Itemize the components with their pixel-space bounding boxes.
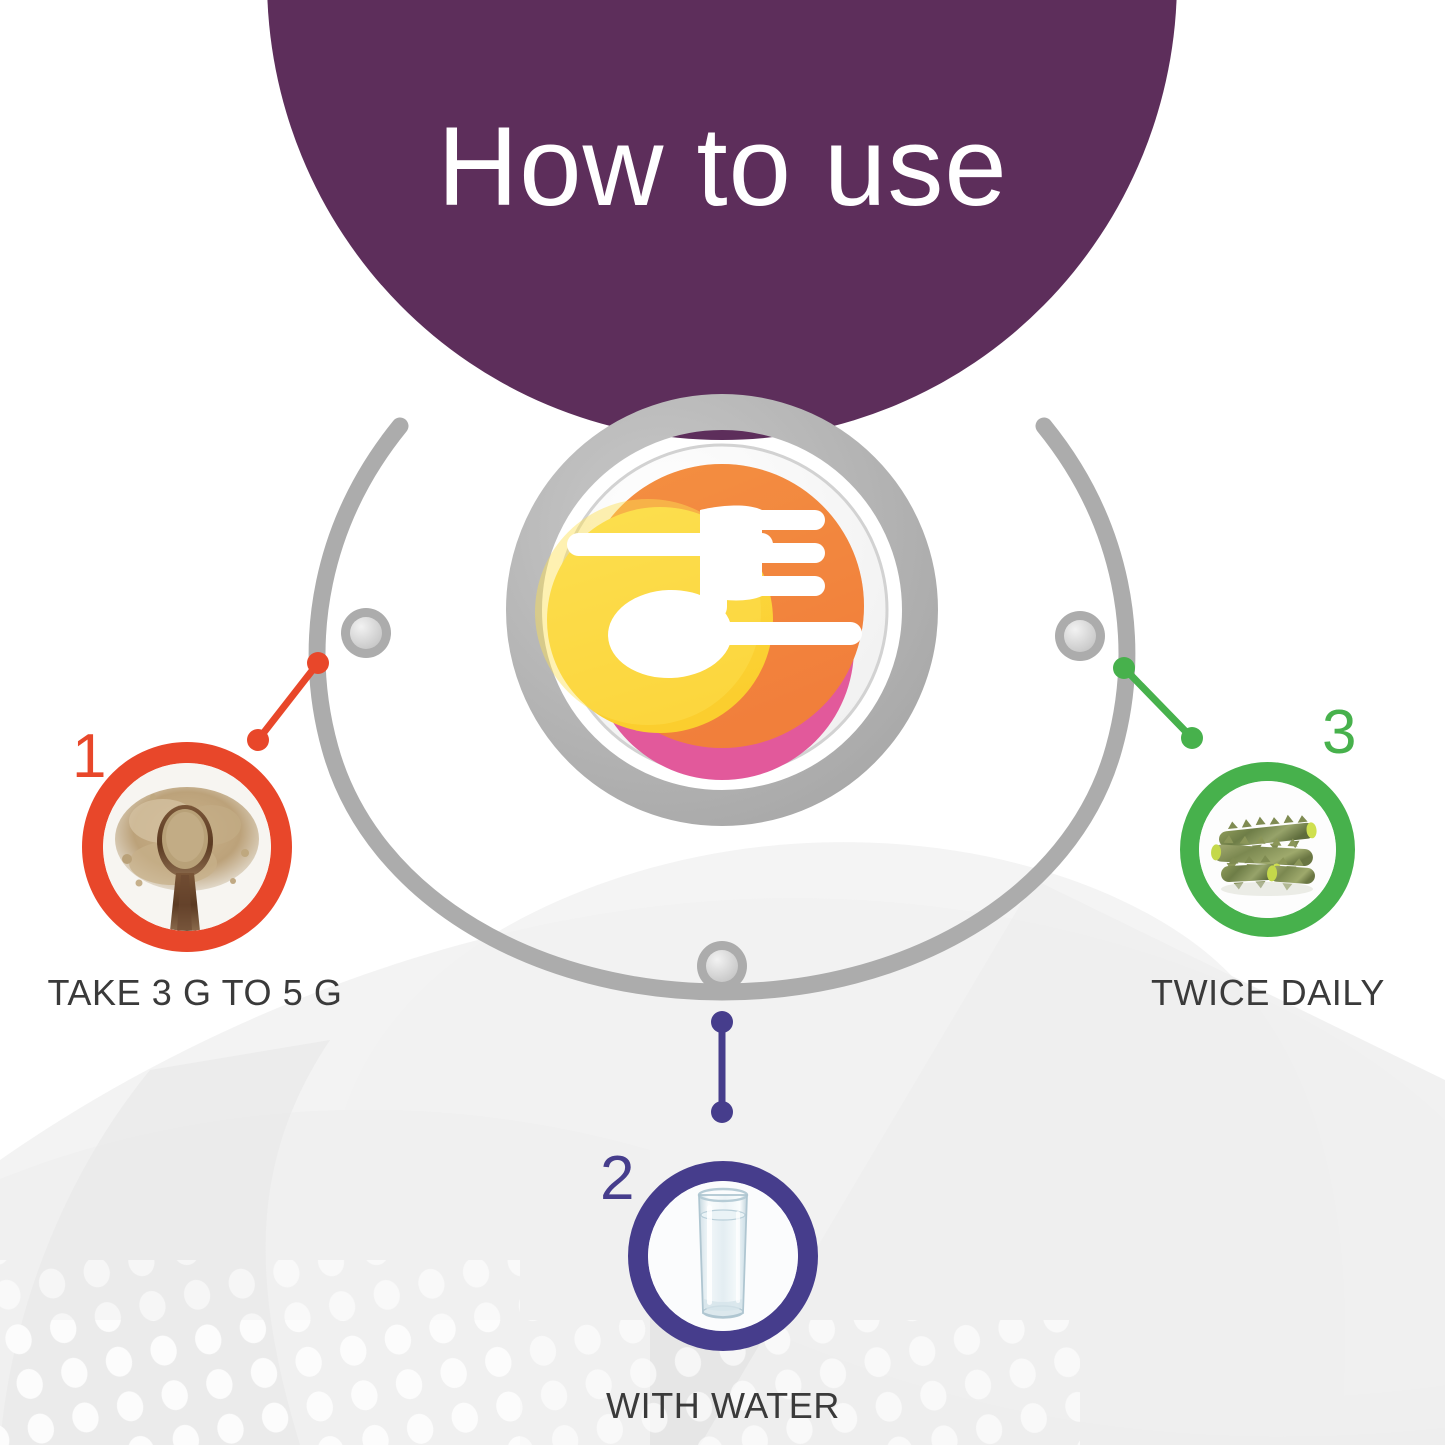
step-3-ring <box>1180 762 1355 937</box>
step-2-circle[interactable] <box>628 1161 818 1351</box>
glass-of-water-photo <box>648 1181 798 1331</box>
step-3-number: 3 <box>1322 702 1356 764</box>
step-1-ring <box>82 742 292 952</box>
page-title: How to use <box>0 108 1445 226</box>
infographic-canvas: How to use 1 <box>0 0 1445 1445</box>
step-3-label: TWICE DAILY <box>1013 972 1445 1014</box>
herbal-powder-spoon-photo <box>103 763 271 931</box>
step-2-ring <box>628 1161 818 1351</box>
step-3-circle[interactable] <box>1180 762 1355 937</box>
step-1-label: TAKE 3 G TO 5 G <box>0 972 450 1014</box>
step-1-circle[interactable] <box>82 742 292 952</box>
step-2-label: WITH WATER <box>468 1385 978 1427</box>
herb-stems-photo <box>1199 781 1336 918</box>
